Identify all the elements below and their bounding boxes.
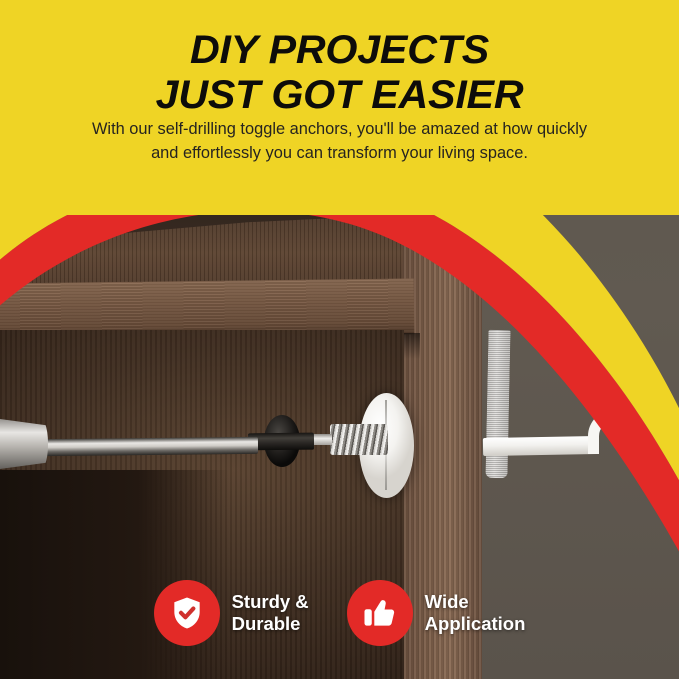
badge-sturdy-durable: Sturdy & Durable <box>154 580 309 646</box>
badge-sturdy-durable-label: Sturdy & Durable <box>232 591 309 635</box>
badge-label-line-2: Application <box>425 613 526 635</box>
toggle-bracket-loop <box>588 410 640 454</box>
thumbs-up-icon <box>347 580 413 646</box>
subtitle-line-2: and effortlessly you can transform your … <box>28 141 651 165</box>
headline-line-1: DIY PROJECTS <box>0 28 679 73</box>
shield-check-icon <box>154 580 220 646</box>
page-title: DIY PROJECTS JUST GOT EASIER <box>0 28 679 118</box>
feature-badges: Sturdy & Durable Wide Application <box>0 570 679 656</box>
badge-wide-application: Wide Application <box>347 580 526 646</box>
badge-wide-application-label: Wide Application <box>425 591 526 635</box>
product-feature-poster: DIY PROJECTS JUST GOT EASIER With our se… <box>0 0 679 679</box>
badge-label-line-2: Durable <box>232 613 309 635</box>
subtitle: With our self-drilling toggle anchors, y… <box>28 117 651 165</box>
threaded-screw-threads <box>330 424 388 455</box>
subtitle-line-1: With our self-drilling toggle anchors, y… <box>28 117 651 141</box>
badge-label-line-1: Wide <box>425 591 526 613</box>
toggle-bracket-arm <box>483 436 598 456</box>
metal-wall-plate <box>485 330 510 478</box>
headline-line-2: JUST GOT EASIER <box>0 73 679 118</box>
drill-shaft <box>38 437 258 456</box>
badge-label-line-1: Sturdy & <box>232 591 309 613</box>
